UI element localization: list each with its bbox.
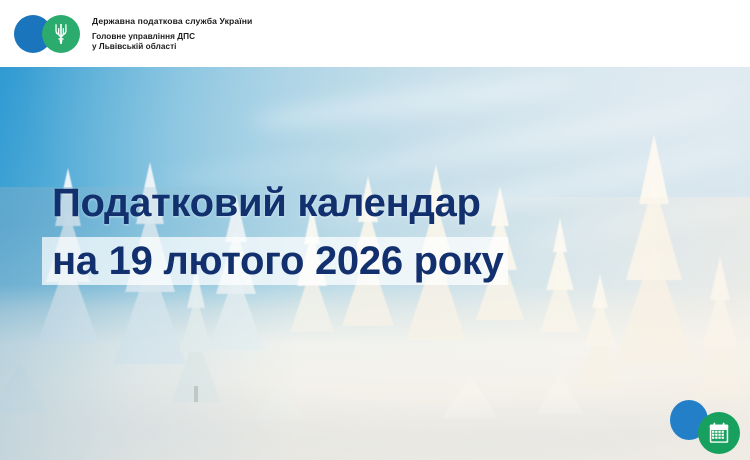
department-name: Головне управління ДПС у Львівській обла… [92, 32, 252, 51]
agency-logo[interactable] [14, 15, 86, 53]
snow-shadow-overlay [0, 340, 750, 460]
headline-line-1: Податковий календар [52, 181, 481, 226]
calendar-badge[interactable] [670, 400, 742, 456]
headline-line-2: на 19 лютого 2026 року [52, 239, 504, 284]
green-circle-icon [42, 15, 80, 53]
department-line-1: Головне управління ДПС [92, 32, 252, 42]
tax-calendar-banner: Державна податкова служба України Головн… [0, 0, 750, 460]
department-line-2: у Львівській області [92, 42, 252, 52]
calendar-icon [707, 421, 731, 445]
site-header: Державна податкова служба України Головн… [0, 0, 750, 67]
agency-wordmark: Державна податкова служба України Головн… [92, 15, 252, 51]
badge-green-circle-icon [698, 412, 740, 454]
ukrainian-trident-icon [52, 23, 70, 45]
organization-title: Державна податкова служба України [92, 16, 252, 26]
